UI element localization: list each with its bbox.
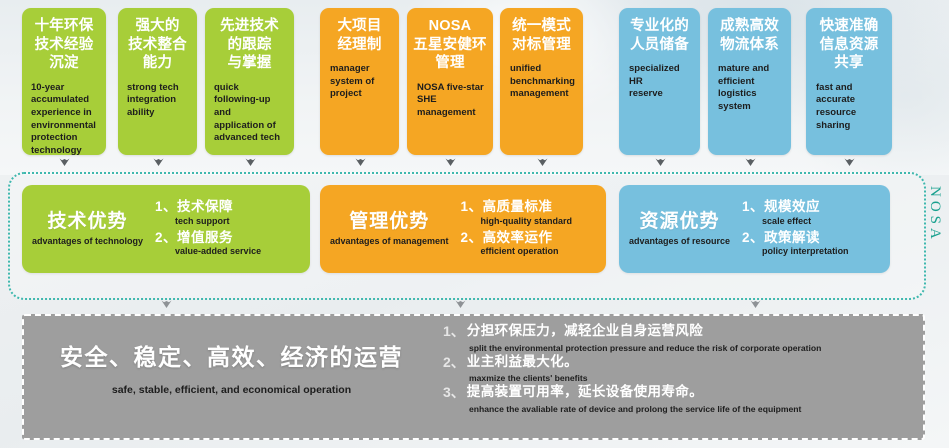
advantage-item-cn: 2、增值服务 — [155, 230, 306, 246]
advantage-item-number: 1、 — [155, 199, 177, 214]
advantage-item-cn: 1、规模效应 — [742, 199, 886, 215]
summary-point-cn: 业主利益最大化。 — [467, 354, 578, 370]
advantage-item-en: high-quality standard — [461, 216, 602, 227]
advantage-item-text: 政策解读 — [764, 230, 820, 245]
summary-point-cn: 分担环保压力，减轻企业自身运营风险 — [467, 323, 703, 339]
summary-panel: 安全、稳定、高效、经济的运营 safe, stable, efficient, … — [22, 314, 925, 440]
advantage-box: 技术优势advantages of technology1、技术保障tech s… — [22, 185, 310, 273]
capability-card-title: 快速准确 信息资源 共享 — [812, 17, 886, 73]
summary-point: 2、业主利益最大化。maxmize the clients' benefits — [443, 354, 913, 385]
summary-point-number: 2、 — [443, 354, 467, 371]
capability-card-title: NOSA 五星安健环 管理 — [413, 17, 487, 73]
advantage-heading: 管理优势advantages of management — [320, 212, 455, 247]
chevron-down-icon — [445, 158, 456, 167]
advantage-item: 1、规模效应scale effect — [742, 199, 886, 226]
advantage-item: 2、高效率运作efficient operation — [461, 230, 602, 257]
advantage-item-cn: 1、高质量标准 — [461, 199, 602, 215]
advantage-item: 1、技术保障tech support — [155, 199, 306, 226]
advantage-item-en: efficient operation — [461, 246, 602, 257]
chevron-down-icon — [355, 158, 366, 167]
capability-card-title: 十年环保 技术经验 沉淀 — [28, 17, 100, 73]
top-card-row: 十年环保 技术经验 沉淀10-year accumulated experien… — [0, 8, 949, 158]
advantage-item-en: policy interpretation — [742, 246, 886, 257]
summary-heading-block: 安全、稳定、高效、经济的运营 safe, stable, efficient, … — [24, 316, 439, 396]
capability-card: 大项目 经理制manager system of project — [320, 8, 399, 155]
chevron-down-icon — [161, 300, 172, 309]
capability-card: 十年环保 技术经验 沉淀10-year accumulated experien… — [22, 8, 106, 155]
capability-card-subtitle: specialized HR reserve — [625, 63, 694, 101]
summary-point-en: split the environmental protection press… — [443, 343, 913, 354]
chevron-down-icon — [455, 300, 466, 309]
capability-card-title: 强大的 技术整合 能力 — [124, 17, 191, 73]
capability-card-subtitle: 10-year accumulated experience in enviro… — [28, 82, 100, 158]
advantage-title-cn: 管理优势 — [330, 212, 449, 233]
advantage-item-text: 规模效应 — [764, 199, 820, 214]
advantage-title-en: advantages of resource — [629, 236, 730, 246]
chevron-down-icon — [745, 158, 756, 167]
advantage-item-text: 技术保障 — [177, 199, 233, 214]
capability-card: 强大的 技术整合 能力strong tech integration abili… — [118, 8, 197, 155]
summary-point-en: maxmize the clients' benefits — [443, 373, 913, 384]
advantage-title-cn: 技术优势 — [32, 212, 143, 233]
capability-card-subtitle: quick following-up and application of ad… — [211, 82, 288, 145]
chevron-down-icon — [59, 158, 70, 167]
summary-point-heading: 3、提高装置可用率，延长设备使用寿命。 — [443, 384, 913, 401]
advantage-title-en: advantages of management — [330, 236, 449, 246]
summary-point-number: 3、 — [443, 384, 467, 401]
advantage-item-en: tech support — [155, 216, 306, 227]
advantage-items: 1、技术保障tech support2、增值服务value-added serv… — [149, 198, 310, 260]
advantage-item-number: 2、 — [155, 230, 177, 245]
advantage-item: 2、政策解读policy interpretation — [742, 230, 886, 257]
capability-card-title: 专业化的 人员储备 — [625, 17, 694, 54]
advantage-item-number: 2、 — [461, 230, 483, 245]
chevron-down-icon — [750, 300, 761, 309]
capability-card: NOSA 五星安健环 管理NOSA five-star SHE manageme… — [407, 8, 493, 155]
capability-card-subtitle: unified benchmarking management — [506, 63, 577, 101]
advantage-item-cn: 2、政策解读 — [742, 230, 886, 246]
advantage-box: 管理优势advantages of management1、高质量标准high-… — [320, 185, 606, 273]
nosa-vertical-label: NOSA — [921, 186, 943, 243]
chevron-down-icon — [245, 158, 256, 167]
advantage-item-en: scale effect — [742, 216, 886, 227]
summary-point-heading: 1、分担环保压力，减轻企业自身运营风险 — [443, 323, 913, 340]
summary-point: 1、分担环保压力，减轻企业自身运营风险split the environment… — [443, 323, 913, 354]
advantage-item-text: 高质量标准 — [483, 199, 553, 214]
advantage-title-cn: 资源优势 — [629, 212, 730, 233]
capability-card: 先进技术 的跟踪 与掌握quick following-up and appli… — [205, 8, 294, 155]
capability-card-title: 先进技术 的跟踪 与掌握 — [211, 17, 288, 73]
capability-card: 快速准确 信息资源 共享fast and accurate resource s… — [806, 8, 892, 155]
advantage-item-number: 2、 — [742, 230, 764, 245]
advantage-items: 1、高质量标准high-quality standard2、高效率运作effic… — [455, 198, 606, 260]
summary-point: 3、提高装置可用率，延长设备使用寿命。enhance the avaliable… — [443, 384, 913, 415]
capability-card-subtitle: fast and accurate resource sharing — [812, 82, 886, 133]
capability-card: 统一模式 对标管理unified benchmarking management — [500, 8, 583, 155]
summary-title-cn: 安全、稳定、高效、经济的运营 — [24, 338, 439, 372]
summary-point-heading: 2、业主利益最大化。 — [443, 354, 913, 371]
capability-card-subtitle: strong tech integration ability — [124, 82, 191, 120]
advantage-heading: 资源优势advantages of resource — [619, 212, 736, 247]
summary-point-en: enhance the avaliable rate of device and… — [443, 404, 913, 415]
advantage-item-number: 1、 — [742, 199, 764, 214]
advantage-item-number: 1、 — [461, 199, 483, 214]
chevron-down-icon — [844, 158, 855, 167]
advantage-item-text: 高效率运作 — [483, 230, 553, 245]
summary-point-number: 1、 — [443, 323, 467, 340]
advantage-item: 1、高质量标准high-quality standard — [461, 199, 602, 226]
advantage-title-en: advantages of technology — [32, 236, 143, 246]
summary-point-cn: 提高装置可用率，延长设备使用寿命。 — [467, 384, 703, 400]
capability-card-subtitle: manager system of project — [326, 63, 393, 101]
capability-card-title: 大项目 经理制 — [326, 17, 393, 54]
capability-card-title: 成熟高效 物流体系 — [714, 17, 785, 54]
advantage-box: 资源优势advantages of resource1、规模效应scale ef… — [619, 185, 890, 273]
advantage-item-cn: 2、高效率运作 — [461, 230, 602, 246]
advantage-item-cn: 1、技术保障 — [155, 199, 306, 215]
summary-title-en: safe, stable, efficient, and economical … — [24, 384, 439, 396]
capability-card-subtitle: NOSA five-star SHE management — [413, 82, 487, 120]
advantage-item-text: 增值服务 — [177, 230, 233, 245]
capability-card: 专业化的 人员储备specialized HR reserve — [619, 8, 700, 155]
chevron-down-icon — [655, 158, 666, 167]
capability-card-subtitle: mature and efficient logistics system — [714, 63, 785, 114]
capability-card-title: 统一模式 对标管理 — [506, 17, 577, 54]
chevron-down-icon — [537, 158, 548, 167]
advantage-item: 2、增值服务value-added service — [155, 230, 306, 257]
advantage-heading: 技术优势advantages of technology — [22, 212, 149, 247]
advantage-item-en: value-added service — [155, 246, 306, 257]
summary-points-list: 1、分担环保压力，减轻企业自身运营风险split the environment… — [439, 316, 923, 415]
advantage-items: 1、规模效应scale effect2、政策解读policy interpret… — [736, 198, 890, 260]
chevron-down-icon — [153, 158, 164, 167]
capability-card: 成熟高效 物流体系mature and efficient logistics … — [708, 8, 791, 155]
